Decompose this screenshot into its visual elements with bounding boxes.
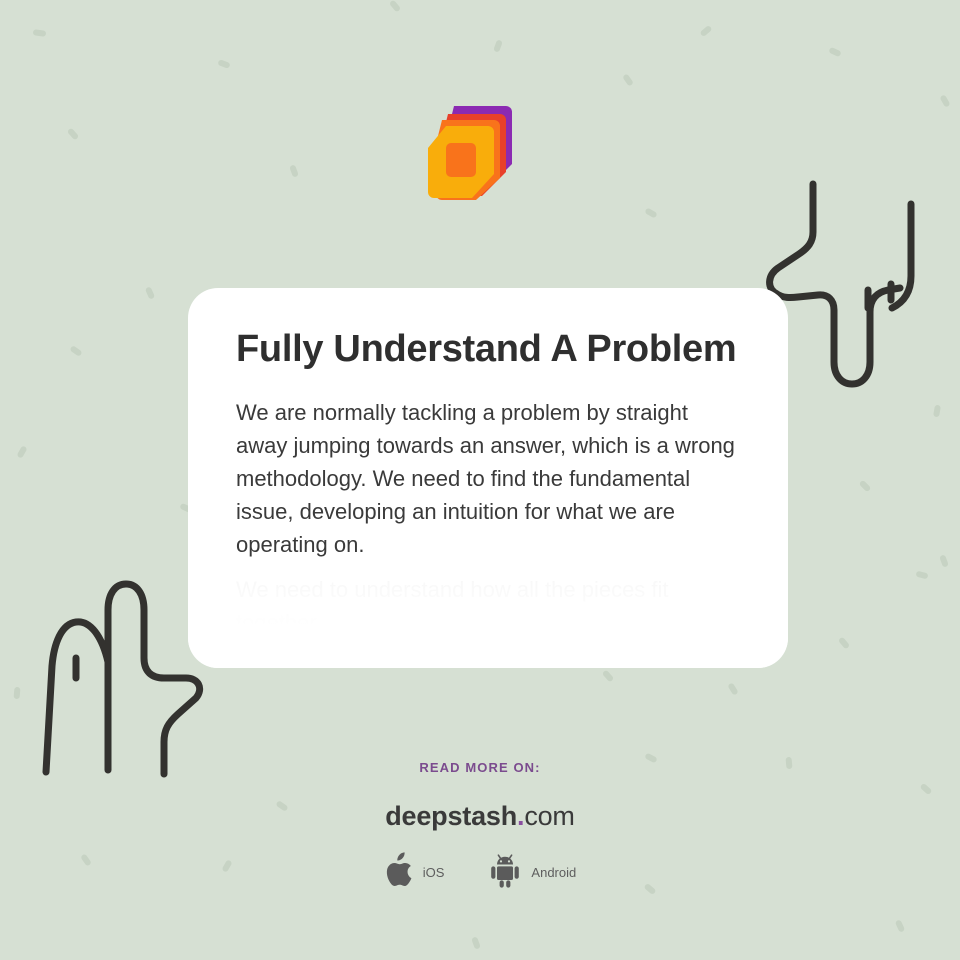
brand-name: deepstash xyxy=(385,801,517,831)
apple-icon xyxy=(384,852,414,893)
confetti-dash xyxy=(145,286,155,299)
confetti-dash xyxy=(289,164,299,177)
confetti-dash xyxy=(859,480,872,493)
store-badge-android[interactable]: Android xyxy=(488,852,576,893)
store-badges: iOS xyxy=(0,852,960,893)
poster-canvas: Fully Understand A Problem We are normal… xyxy=(0,0,960,960)
read-more-label: READ MORE ON: xyxy=(0,760,960,775)
store-label-android: Android xyxy=(531,865,576,880)
android-icon xyxy=(488,852,522,893)
confetti-dash xyxy=(217,59,230,69)
confetti-dash xyxy=(939,554,949,567)
idea-card: Fully Understand A Problem We are normal… xyxy=(188,288,788,668)
confetti-dash xyxy=(13,687,20,699)
confetti-dash xyxy=(622,73,634,86)
card-body-text: We are normally tackling a problem by st… xyxy=(236,396,740,561)
confetti-dash xyxy=(828,47,841,58)
confetti-dash xyxy=(67,128,79,141)
confetti-dash xyxy=(915,571,928,580)
card-truncated-line: We need to understand how all the pieces… xyxy=(236,573,740,639)
confetti-dash xyxy=(699,25,712,37)
page-title: Fully Understand A Problem xyxy=(236,324,740,374)
brand-wordmark[interactable]: deepstash.com xyxy=(0,801,960,832)
footer: READ MORE ON: deepstash.com iOS xyxy=(0,760,960,893)
hand-pointing-up-icon xyxy=(26,562,206,787)
card-content: Fully Understand A Problem We are normal… xyxy=(188,288,788,639)
store-label-ios: iOS xyxy=(423,865,445,880)
confetti-dash xyxy=(16,445,27,458)
confetti-dash xyxy=(389,0,401,13)
confetti-dash xyxy=(471,936,481,949)
confetti-dash xyxy=(69,345,82,357)
confetti-dash xyxy=(838,636,850,649)
confetti-dash xyxy=(493,39,503,52)
deepstash-logo xyxy=(424,100,528,204)
confetti-dash xyxy=(895,919,906,932)
confetti-dash xyxy=(644,207,657,218)
confetti-dash xyxy=(602,670,614,683)
confetti-dash xyxy=(933,405,941,418)
confetti-dash xyxy=(939,94,950,107)
brand-tld: com xyxy=(524,801,574,831)
card-body-paragraph: We are normally tackling a problem by st… xyxy=(236,396,740,561)
confetti-dash xyxy=(727,682,738,695)
confetti-dash xyxy=(33,29,47,37)
store-badge-ios[interactable]: iOS xyxy=(384,852,445,893)
